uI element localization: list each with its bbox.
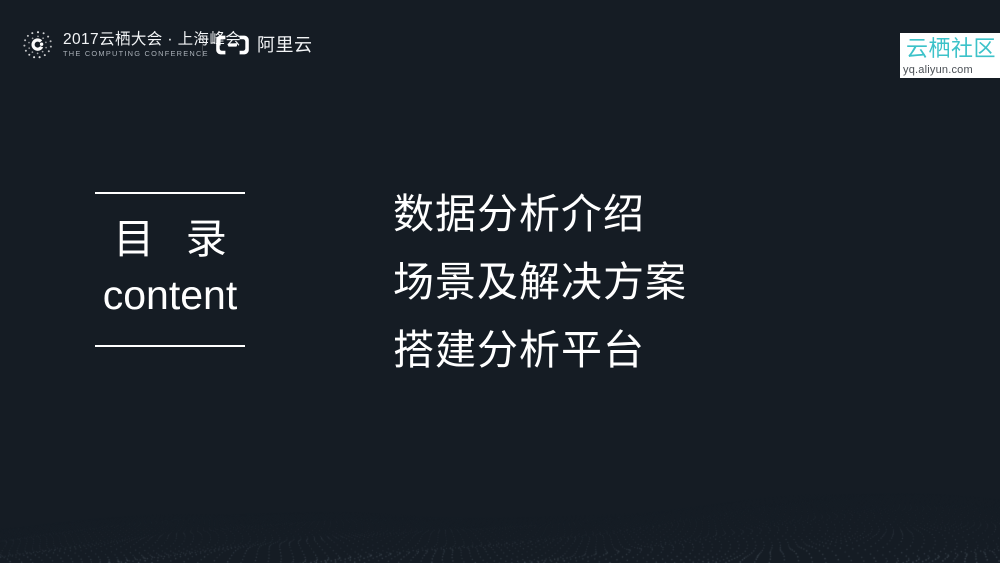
toc-item-1[interactable]: 数据分析介绍 — [393, 190, 687, 238]
toc-rule-bottom — [95, 345, 245, 347]
toc-item-list: 数据分析介绍 场景及解决方案 搭建分析平台 — [393, 190, 687, 374]
toc-heading-cn: 目 录 — [95, 216, 245, 262]
toc-rule-top — [95, 192, 245, 194]
toc-item-2[interactable]: 场景及解决方案 — [393, 258, 687, 306]
toc-heading-block: 目 录 content — [95, 192, 245, 347]
slide-body: 目 录 content 数据分析介绍 场景及解决方案 搭建分析平台 — [0, 0, 1000, 563]
toc-item-3[interactable]: 搭建分析平台 — [393, 326, 687, 374]
toc-heading-en: content — [95, 270, 245, 320]
slide-canvas: 2017云栖大会 · 上海峰会 THE COMPUTING CONFERENCE… — [0, 0, 1000, 563]
